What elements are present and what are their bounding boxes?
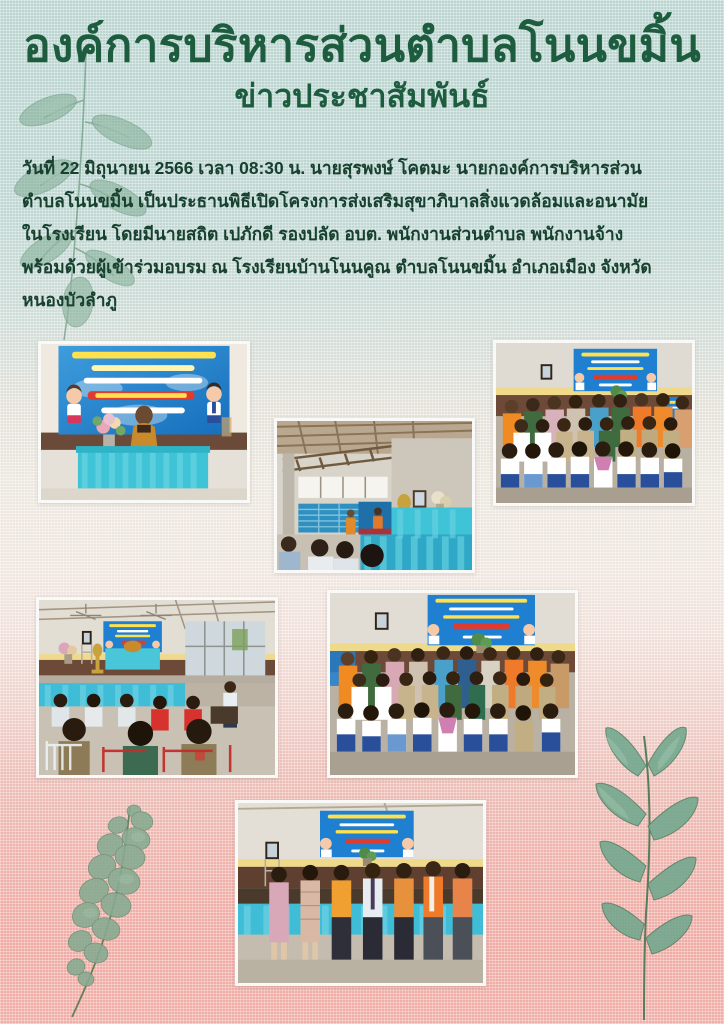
news-line-3: ในโรงเรียน โดยมีนายสถิต เปภักดี รองปลัด … [22,218,706,251]
news-line-2: ตำบลโนนขมิ้น เป็นประธานพิธีเปิดโครงการส่… [22,185,706,218]
photo-stage-speaker [38,341,250,503]
page-title: องค์การบริหารส่วนตำบลโนนขมิ้น [0,0,724,72]
news-body: วันที่ 22 มิถุนายน 2566 เวลา 08:30 น. นา… [22,152,706,317]
photo-audience-seated [36,597,278,778]
page-subtitle: ข่าวประชาสัมพันธ์ [0,76,724,118]
photo-group-students [493,340,695,506]
photo-group-students-large [327,590,578,778]
photo-hall-interior [274,418,475,573]
news-line-1: วันที่ 22 มิถุนายน 2566 เวลา 08:30 น. นา… [22,152,706,185]
poster-canvas: องค์การบริหารส่วนตำบลโนนขมิ้น ข่าวประชาส… [0,0,724,1024]
news-line-5: หนองบัวลำภู [22,284,706,317]
news-line-4: พร้อมด้วยผู้เข้าร่วมอบรม ณ โรงเรียนบ้านโ… [22,251,706,284]
photo-group-officials [235,800,486,986]
poster-header: องค์การบริหารส่วนตำบลโนนขมิ้น ข่าวประชาส… [0,0,724,118]
leaf-branch-right-icon [566,706,724,1024]
eucalyptus-branch-icon [30,795,210,1023]
